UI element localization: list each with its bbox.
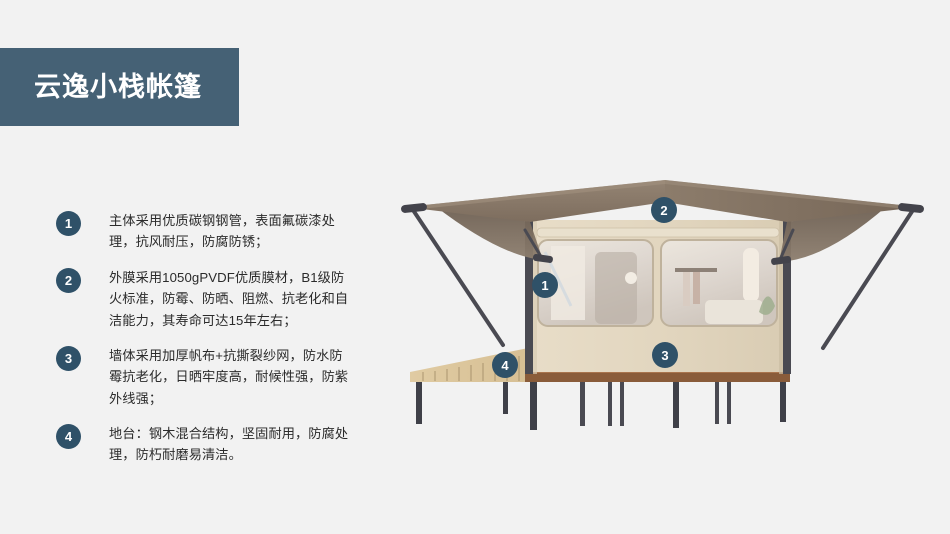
callout-badge-4: 4 bbox=[492, 352, 518, 378]
cabin-legs bbox=[530, 382, 786, 430]
title-banner: 云逸小栈帐篷 bbox=[0, 48, 239, 126]
cabin-leg bbox=[673, 382, 679, 428]
feature-text-4: 地台：钢木混合结构，坚固耐用，防腐处理，防朽耐磨易清洁。 bbox=[109, 423, 353, 466]
slide-root: 云逸小栈帐篷 1 主体采用优质碳钢钢管，表面氟碳漆处理，抗风耐压，防腐防锈； 2… bbox=[0, 0, 950, 534]
feature-badge-3: 3 bbox=[56, 346, 81, 371]
cabin-leg bbox=[715, 382, 719, 424]
window-interior-garment bbox=[693, 272, 700, 304]
deck-leg bbox=[503, 382, 508, 414]
feature-badge-4: 4 bbox=[56, 424, 81, 449]
callout-badge-3: 3 bbox=[652, 342, 678, 368]
cabin-leg bbox=[580, 382, 585, 426]
list-item: 2 外膜采用1050gPVDF优质膜材，B1级防火标准，防霉、防晒、阻燃、抗老化… bbox=[56, 267, 356, 331]
pole-cap-right bbox=[898, 203, 925, 214]
page-title: 云逸小栈帐篷 bbox=[34, 74, 202, 101]
feature-badge-2: 2 bbox=[56, 268, 81, 293]
window-interior-object bbox=[595, 252, 637, 324]
cabin-leg bbox=[530, 382, 537, 430]
feature-text-3: 墙体采用加厚帆布+抗撕裂纱网，防水防霉抗老化，日晒牢度高，耐候性强，防紫外线强； bbox=[109, 345, 353, 409]
pole-cap-left bbox=[401, 203, 428, 214]
feature-list: 1 主体采用优质碳钢钢管，表面氟碳漆处理，抗风耐压，防腐防锈； 2 外膜采用10… bbox=[56, 210, 356, 480]
cabin-leg bbox=[620, 382, 624, 426]
window-interior-lamp bbox=[625, 272, 637, 284]
window-interior-garment bbox=[683, 272, 690, 306]
feature-text-1: 主体采用优质碳钢钢管，表面氟碳漆处理，抗风耐压，防腐防锈； bbox=[109, 210, 353, 253]
window-interior-rail bbox=[675, 268, 717, 272]
deck-leg bbox=[416, 382, 422, 424]
list-item: 3 墙体采用加厚帆布+抗撕裂纱网，防水防霉抗老化，日晒牢度高，耐候性强，防紫外线… bbox=[56, 345, 356, 409]
cabin-leg bbox=[727, 382, 731, 424]
callout-badge-2: 2 bbox=[651, 197, 677, 223]
window-interior-column bbox=[743, 248, 759, 302]
list-item: 1 主体采用优质碳钢钢管，表面氟碳漆处理，抗风耐压，防腐防锈； bbox=[56, 210, 356, 253]
post-trim-right bbox=[779, 218, 783, 374]
cabin-leg bbox=[608, 382, 612, 426]
window-right bbox=[661, 240, 777, 326]
list-item: 4 地台：钢木混合结构，坚固耐用，防腐处理，防朽耐磨易清洁。 bbox=[56, 423, 356, 466]
callout-badge-1: 1 bbox=[532, 272, 558, 298]
cabin-leg bbox=[780, 382, 786, 422]
valance-band bbox=[537, 228, 779, 237]
feature-text-2: 外膜采用1050gPVDF优质膜材，B1级防火标准，防霉、防晒、阻燃、抗老化和自… bbox=[109, 267, 353, 331]
feature-badge-1: 1 bbox=[56, 211, 81, 236]
window-interior-bed bbox=[705, 300, 763, 324]
